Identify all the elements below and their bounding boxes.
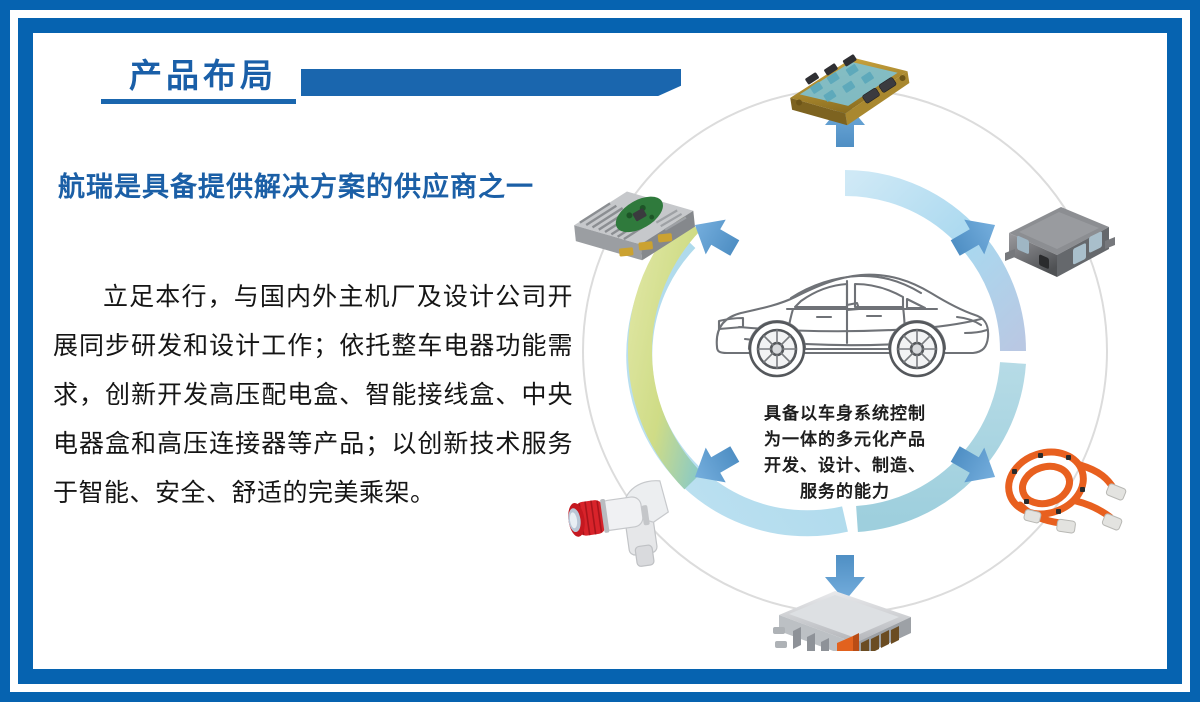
product-hv-connector — [565, 479, 676, 575]
arc-left — [640, 223, 693, 481]
center-caption: 具备以车身系统控制 为一体的多元化产品 开发、设计、制造、 服务的能力 — [735, 401, 955, 505]
title-banner-bar — [301, 69, 681, 96]
page-title: 产品布局 — [129, 55, 277, 97]
center-caption-line-4: 服务的能力 — [735, 479, 955, 505]
section-subtitle: 航瑞是具备提供解决方案的供应商之一 — [58, 165, 598, 204]
product-power-distribution-unit — [773, 591, 911, 651]
product-hv-cable-harness — [1001, 443, 1127, 534]
center-caption-line-1: 具备以车身系统控制 — [735, 401, 955, 427]
slide-canvas: 产品布局 航瑞是具备提供解决方案的供应商之一 立足本行，与国内外主机厂及设计公司… — [33, 33, 1167, 669]
product-hv-distribution-box — [1005, 207, 1115, 277]
body-paragraph: 立足本行，与国内外主机厂及设计公司开展同步研发和设计工作；依托整车电器功能需求，… — [53, 273, 573, 518]
product-pcb-fuse-module — [785, 51, 914, 133]
slide-root: 产品布局 航瑞是具备提供解决方案的供应商之一 立足本行，与国内外主机厂及设计公司… — [0, 0, 1200, 702]
center-caption-line-2: 为一体的多元化产品 — [735, 427, 955, 453]
title-underline — [101, 99, 296, 104]
product-layout-diagram: 具备以车身系统控制 为一体的多元化产品 开发、设计、制造、 服务的能力 — [545, 51, 1145, 651]
center-vehicle-illustration — [717, 275, 988, 376]
center-caption-line-3: 开发、设计、制造、 — [735, 453, 955, 479]
